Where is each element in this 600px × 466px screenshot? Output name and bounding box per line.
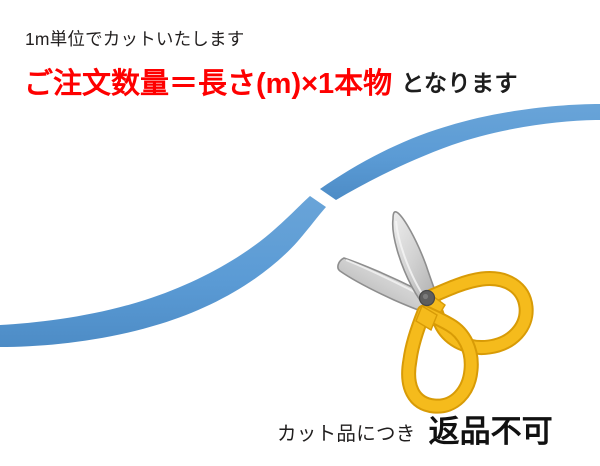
- headline-order-formula: ご注文数量＝長さ(m)×1本物となります: [24, 70, 518, 99]
- order-formula-tail-text: となります: [392, 70, 518, 96]
- headline-cut-unit-note: 1m単位でカットいたします: [25, 31, 244, 49]
- scissors-handle-lower: [409, 306, 472, 406]
- cable-segment-right: [320, 104, 600, 200]
- footer-no-return-notice: カット品につき返品不可: [277, 414, 553, 445]
- order-formula-red-text: ご注文数量＝長さ(m)×1本物: [24, 68, 392, 100]
- cable-segment-left: [0, 196, 326, 347]
- poster-canvas: 1m単位でカットいたします ご注文数量＝長さ(m)×1本物となります カット品に…: [0, 0, 600, 466]
- scissors: [338, 212, 526, 406]
- footer-note-large: 返品不可: [416, 414, 553, 449]
- scissors-pivot: [420, 291, 435, 306]
- footer-note-small: カット品につき: [277, 423, 416, 445]
